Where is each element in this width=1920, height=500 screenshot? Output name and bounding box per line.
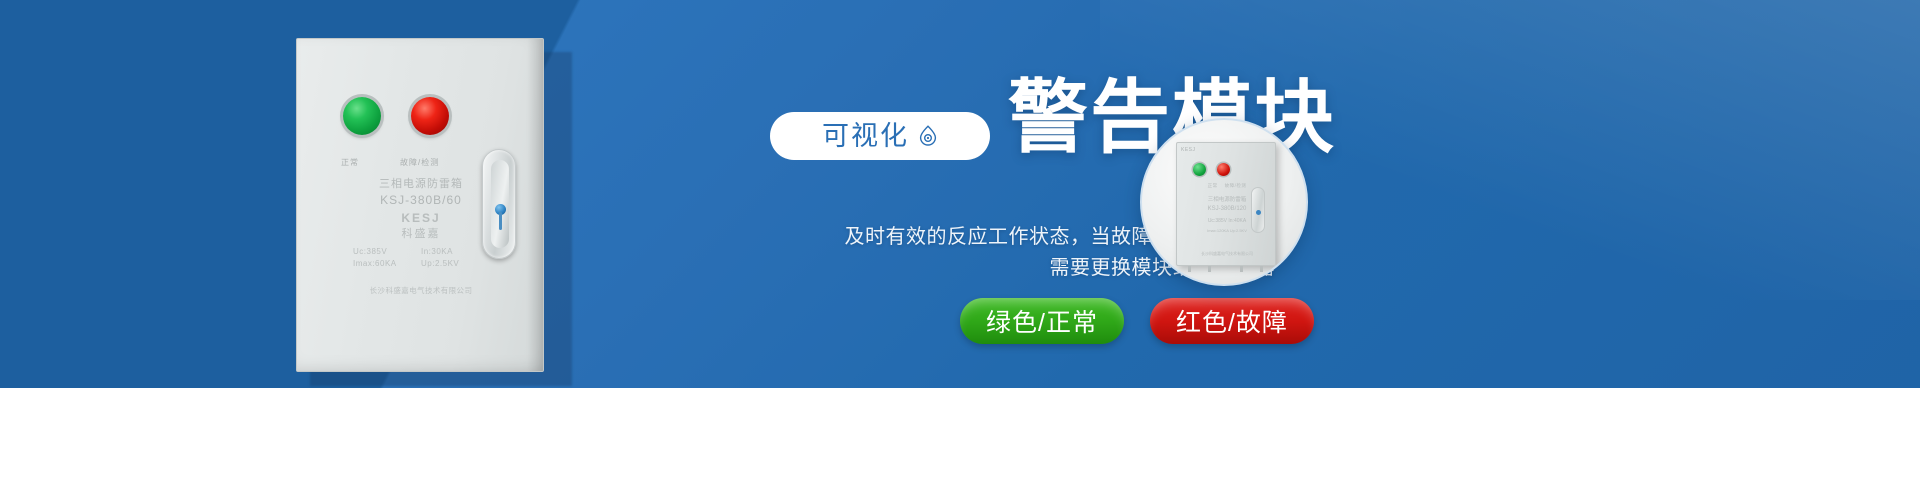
spec-in: In:30KA [421, 247, 489, 256]
location-diamond-icon [918, 125, 938, 147]
inset-brand-top: KESJ [1181, 147, 1196, 153]
product-spec-row-2: Imax:60KAUp:2.5KV [297, 259, 545, 268]
inset-led-green [1193, 163, 1206, 176]
spec-imax: Imax:60KA [353, 259, 421, 268]
visualization-pill-badge: 可视化 [770, 112, 990, 160]
status-badge-normal: 绿色/正常 [960, 298, 1124, 344]
product-image: 正常 故障/检测 三相电源防雷箱 KSJ-380B/60 KESJ 科盛嘉 Uc… [296, 38, 558, 372]
status-badge-group: 绿色/正常 红色/故障 [960, 298, 1314, 344]
product-detail-circle-inset: KESJ 正常 故障/检测 三相电源防雷箱 KSJ-380B/120 Uc:38… [1140, 118, 1308, 286]
inset-company: 长沙科盛嘉电气技术有限公司 [1177, 251, 1277, 257]
product-company: 长沙科盛嘉电气技术有限公司 [297, 285, 545, 296]
lock-keyhole-icon [499, 212, 502, 230]
indicator-led-red [411, 97, 449, 135]
inset-door-handle [1251, 187, 1265, 233]
inset-led-red [1217, 163, 1230, 176]
led-label-normal: 正常 [341, 157, 359, 168]
inset-lock-icon [1256, 210, 1261, 215]
pill-label: 可视化 [822, 123, 909, 150]
inset-led-label-fault: 故障/检测 [1225, 183, 1247, 188]
spec-up: Up:2.5KV [421, 259, 489, 268]
product-banner: 正常 故障/检测 三相电源防雷箱 KSJ-380B/60 KESJ 科盛嘉 Uc… [0, 0, 1920, 500]
spec-uc: Uc:385V [353, 247, 421, 256]
status-badge-fault: 红色/故障 [1150, 298, 1314, 344]
background-bottom-white-band [0, 388, 1920, 500]
inset-led-label-normal: 正常 [1208, 183, 1218, 188]
door-handle [482, 149, 516, 259]
indicator-led-green [343, 97, 381, 135]
led-label-fault: 故障/检测 [400, 157, 439, 168]
inset-mounting-feet [1184, 266, 1268, 272]
product-enclosure: 正常 故障/检测 三相电源防雷箱 KSJ-380B/60 KESJ 科盛嘉 Uc… [296, 38, 544, 372]
inset-enclosure: KESJ 正常 故障/检测 三相电源防雷箱 KSJ-380B/120 Uc:38… [1176, 142, 1276, 266]
